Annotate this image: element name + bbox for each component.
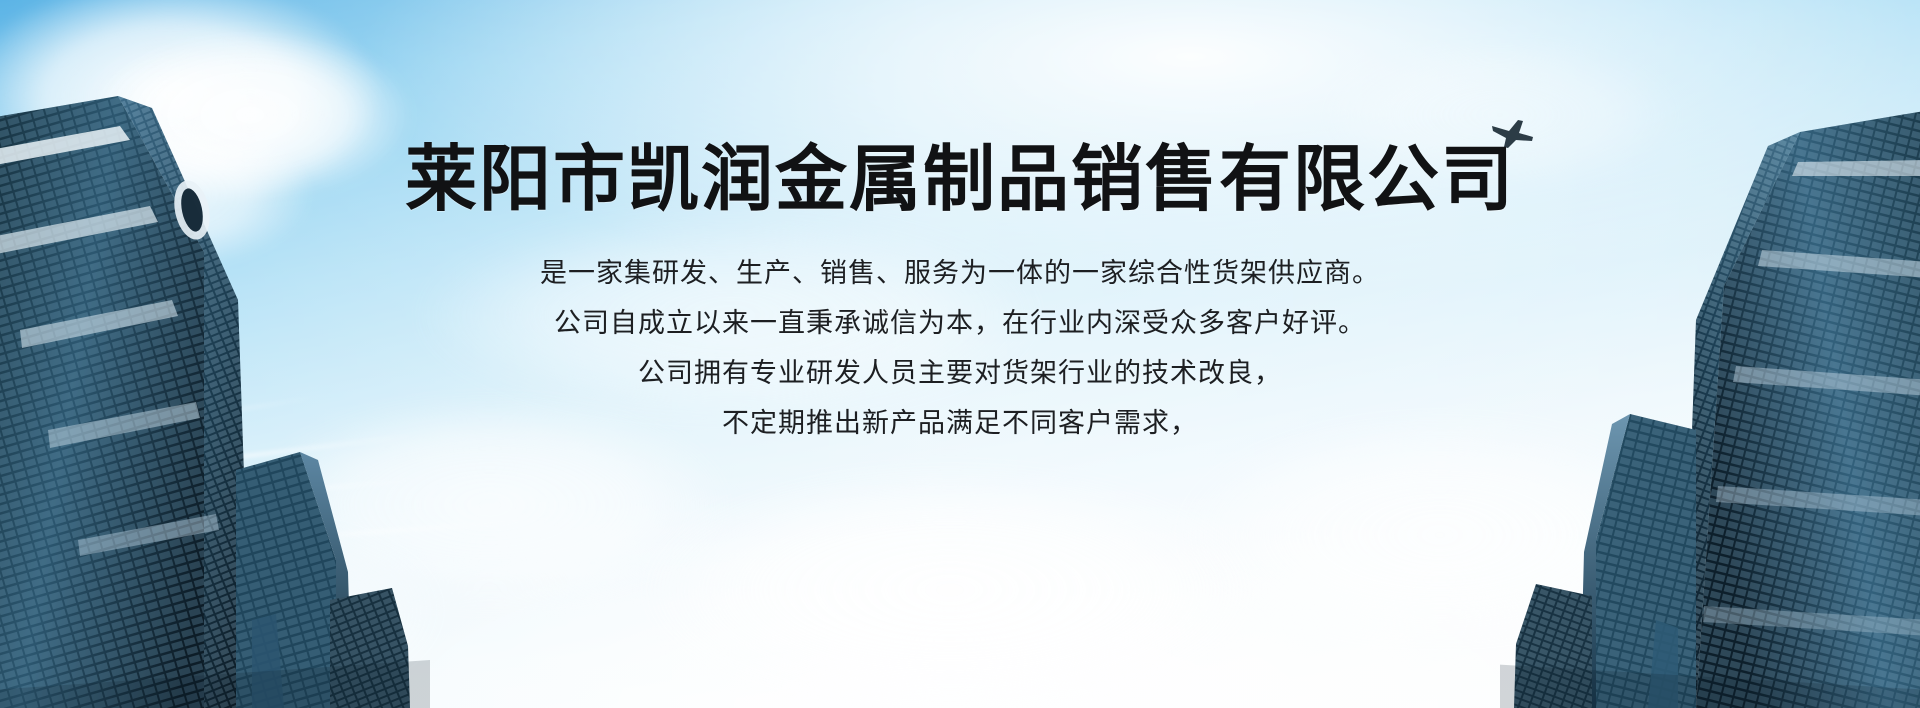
description-line: 公司自成立以来一直秉承诚信为本，在行业内深受众多客户好评。 — [0, 299, 1920, 349]
company-hero-banner: 莱阳市凯润金属制品销售有限公司 是一家集研发、生产、销售、服务为一体的一家综合性… — [0, 0, 1920, 708]
description-line: 是一家集研发、生产、销售、服务为一体的一家综合性货架供应商。 — [0, 249, 1920, 299]
description-line: 公司拥有专业研发人员主要对货架行业的技术改良， — [0, 349, 1920, 399]
company-title: 莱阳市凯润金属制品销售有限公司 — [0, 0, 1920, 215]
banner-text-block: 莱阳市凯润金属制品销售有限公司 是一家集研发、生产、销售、服务为一体的一家综合性… — [0, 0, 1920, 449]
description-line: 不定期推出新产品满足不同客户需求， — [0, 399, 1920, 449]
company-description: 是一家集研发、生产、销售、服务为一体的一家综合性货架供应商。 公司自成立以来一直… — [0, 249, 1920, 449]
